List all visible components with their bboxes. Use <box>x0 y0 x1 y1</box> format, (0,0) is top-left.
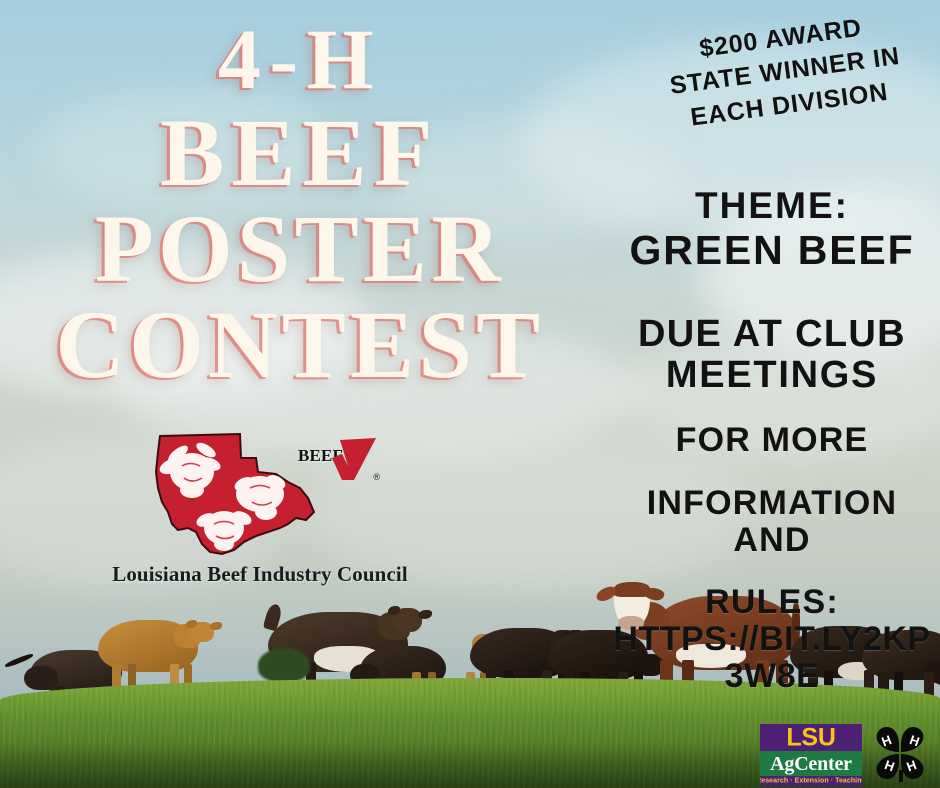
title-line-beef: BEEF <box>0 107 600 199</box>
cow-figure <box>98 620 198 672</box>
louisiana-state-shape-icon <box>148 432 320 557</box>
lsu-wordmark-block: LSU <box>760 724 862 751</box>
info-line-2: INFORMATION AND <box>604 485 940 558</box>
lsu-tagline: Research · Extension · Teaching <box>760 778 862 785</box>
rules-url-line-1[interactable]: HTTPS://BIT.LY2KP <box>604 621 940 658</box>
checkmark-icon <box>298 436 378 484</box>
beef-checkmark-logo: BEEF ® <box>298 436 378 484</box>
lsu-wordmark: LSU <box>786 725 835 750</box>
due-line-1: DUE AT CLUB <box>604 314 940 355</box>
theme-label: THEME: <box>604 186 940 226</box>
bush-shape <box>258 648 310 682</box>
lsu-tagline-block: Research · Extension · Teaching <box>760 776 862 786</box>
title-line-4h: 4-H <box>0 18 600 101</box>
poster-canvas: 4-H BEEF POSTER CONTEST $200 AWARD STATE… <box>0 0 940 788</box>
info-column: THEME: GREEN BEEF DUE AT CLUB MEETINGS F… <box>604 186 940 695</box>
libc-name-text: Louisiana Beef Industry Council <box>100 562 420 587</box>
title-line-contest: CONTEST <box>0 299 600 391</box>
info-line-3: RULES: <box>604 584 940 621</box>
four-h-clover-icon: H H H H <box>868 722 932 784</box>
poster-title: 4-H BEEF POSTER CONTEST <box>0 18 600 391</box>
rules-url-line-2[interactable]: 3W8E <box>604 658 940 695</box>
agcenter-wordmark: AgCenter <box>770 754 852 774</box>
agcenter-wordmark-block: AgCenter <box>760 751 862 776</box>
louisiana-beef-industry-council-logo: BEEF ® Louisiana Beef Industry Council <box>100 432 420 597</box>
lsu-agcenter-logo: LSU AgCenter Research · Extension · Teac… <box>760 724 862 786</box>
due-line-2: MEETINGS <box>604 355 940 396</box>
title-line-poster: POSTER <box>0 203 600 295</box>
theme-value: GREEN BEEF <box>604 228 940 272</box>
registered-mark: ® <box>373 472 380 482</box>
info-line-1: FOR MORE <box>604 422 940 459</box>
